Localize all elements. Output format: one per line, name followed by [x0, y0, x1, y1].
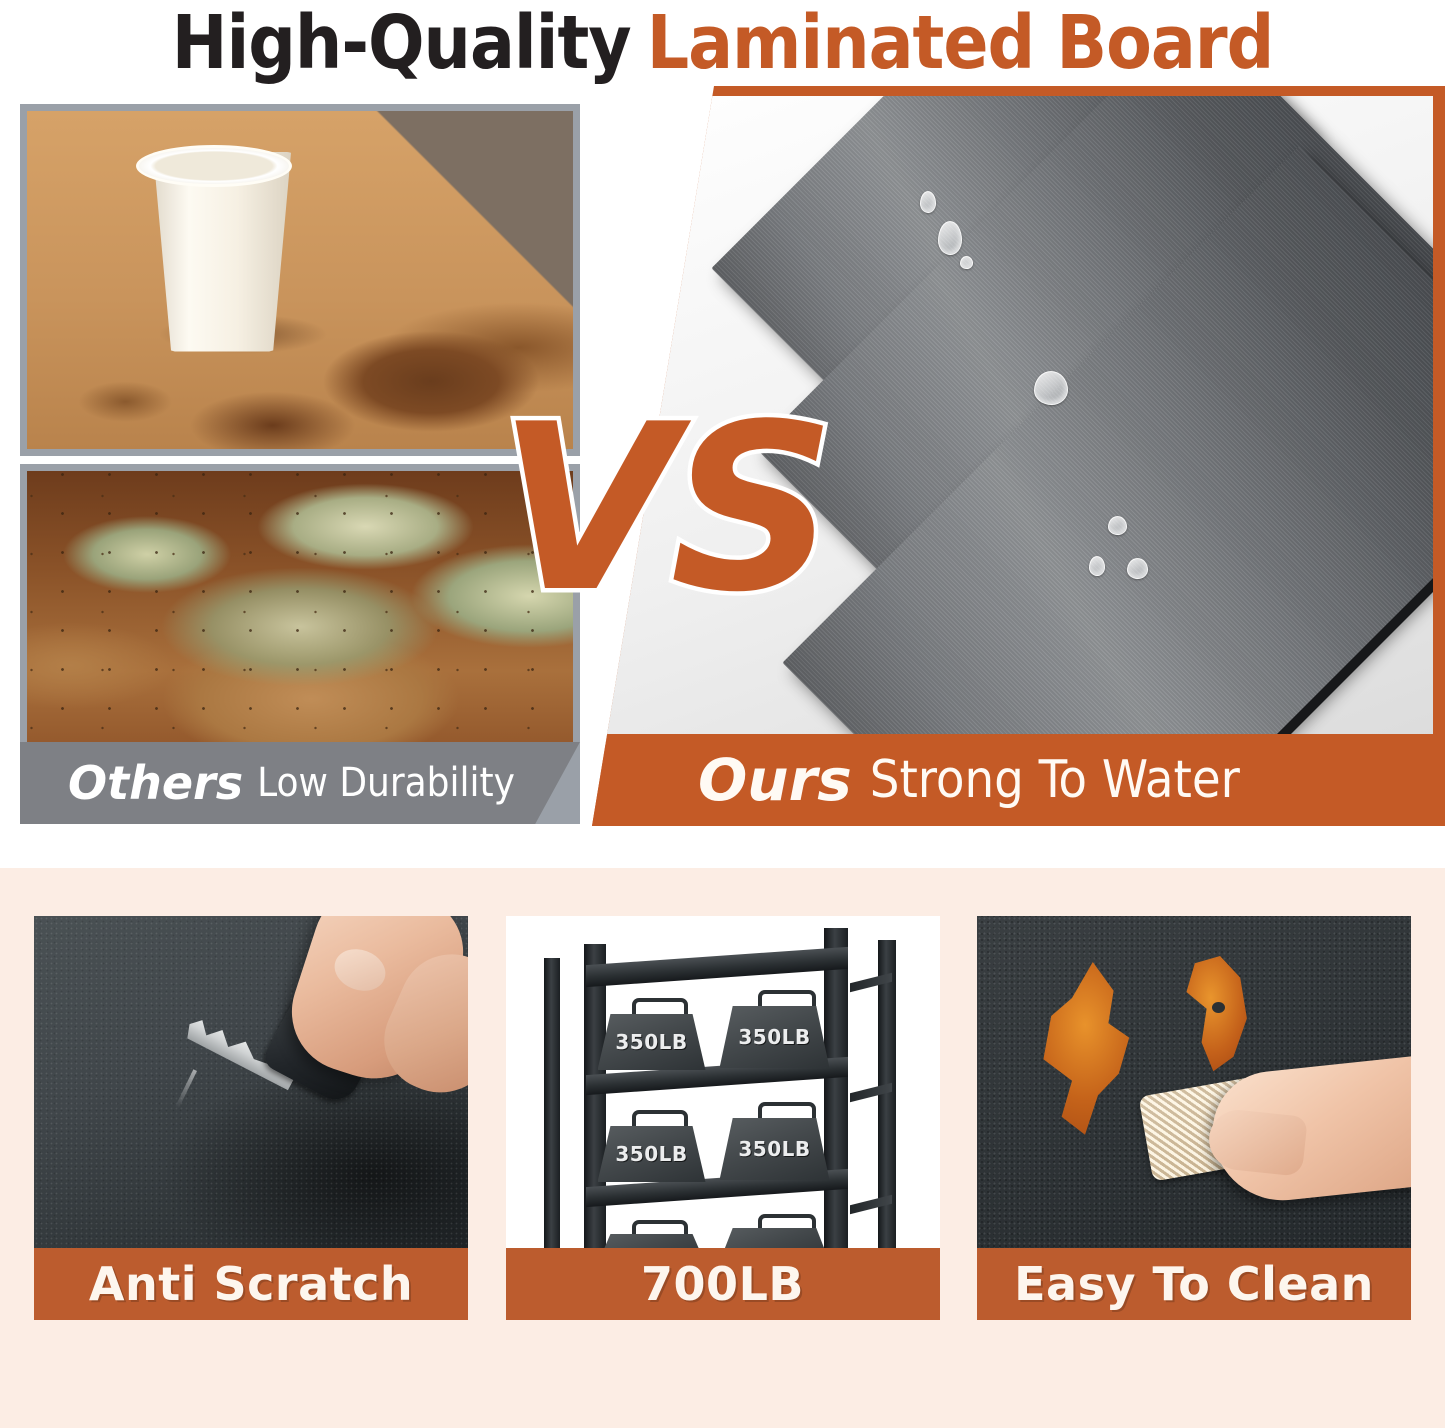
weight-handle: [632, 1110, 688, 1128]
water-droplet-icon: [1089, 556, 1105, 576]
feature-card-anti-scratch: Anti Scratch: [34, 916, 468, 1336]
mold-scene: [27, 471, 573, 749]
page-title: High-Quality Laminated Board: [0, 0, 1445, 86]
water-droplet-icon: [938, 221, 962, 255]
features-row: Anti Scratch 350LB: [0, 916, 1445, 1336]
features-section: Anti Scratch 350LB: [0, 868, 1445, 1428]
capacity-photo: 350LB 350LB 350LB 350LB: [506, 916, 940, 1248]
weight-block: 350LB: [720, 1118, 830, 1180]
feature-caption-capacity: 700LB: [506, 1248, 940, 1320]
weight-block: 350LB: [598, 1014, 706, 1070]
easy-clean-photo: [977, 916, 1411, 1248]
weight-block: 350LB: [598, 1126, 706, 1182]
weight-handle: [632, 1220, 688, 1236]
weight-handle: [758, 1102, 816, 1120]
weight-label: 350LB: [738, 1137, 810, 1161]
title-accent: Laminated Board: [647, 0, 1274, 86]
water-droplet-icon: [1108, 516, 1127, 535]
others-badge: Others Low Durability: [20, 742, 580, 824]
others-panel: Others Low Durability: [20, 104, 580, 824]
water-droplet-icon: [1034, 371, 1068, 405]
weight-handle: [758, 990, 816, 1008]
feature-caption-label: Easy To Clean: [1014, 1257, 1374, 1311]
ours-badge-light: Strong To Water: [870, 750, 1240, 810]
weight-label: 350LB: [615, 1142, 687, 1166]
comparison-section: Others Low Durability Ours Strong To Wat…: [0, 86, 1445, 868]
others-spill-photo: [20, 104, 580, 456]
cup-rim: [136, 145, 292, 187]
weight-block-partial: [598, 1234, 706, 1248]
vs-badge: VS: [498, 416, 830, 605]
others-badge-light: Low Durability: [257, 760, 515, 806]
feature-caption-anti-scratch: Anti Scratch: [34, 1248, 468, 1320]
title-primary: High-Quality: [172, 0, 631, 86]
anti-scratch-photo: [34, 916, 468, 1248]
rack-post-front-right: [824, 928, 848, 1248]
spill-scene: [27, 111, 573, 449]
weight-block: 350LB: [720, 1006, 830, 1068]
mold-specks: [27, 471, 573, 749]
feature-caption-label: 700LB: [641, 1257, 804, 1311]
weight-label: 350LB: [615, 1030, 687, 1054]
weight-handle: [632, 998, 688, 1016]
weight-block-partial: [720, 1228, 830, 1248]
water-droplet-icon: [960, 256, 973, 269]
weight-handle: [758, 1214, 816, 1230]
water-droplet-icon: [920, 191, 936, 213]
rack-post-left: [544, 958, 560, 1248]
ours-badge-strong: Ours: [698, 746, 852, 814]
feature-card-easy-clean: Easy To Clean: [977, 916, 1411, 1336]
feature-caption-label: Anti Scratch: [89, 1257, 413, 1311]
weight-label: 350LB: [738, 1025, 810, 1049]
feature-card-capacity: 350LB 350LB 350LB 350LB: [506, 916, 940, 1336]
others-badge-strong: Others: [68, 756, 243, 810]
water-droplet-icon: [1127, 558, 1148, 579]
ours-badge: Ours Strong To Water: [592, 734, 1445, 826]
feature-caption-easy-clean: Easy To Clean: [977, 1248, 1411, 1320]
